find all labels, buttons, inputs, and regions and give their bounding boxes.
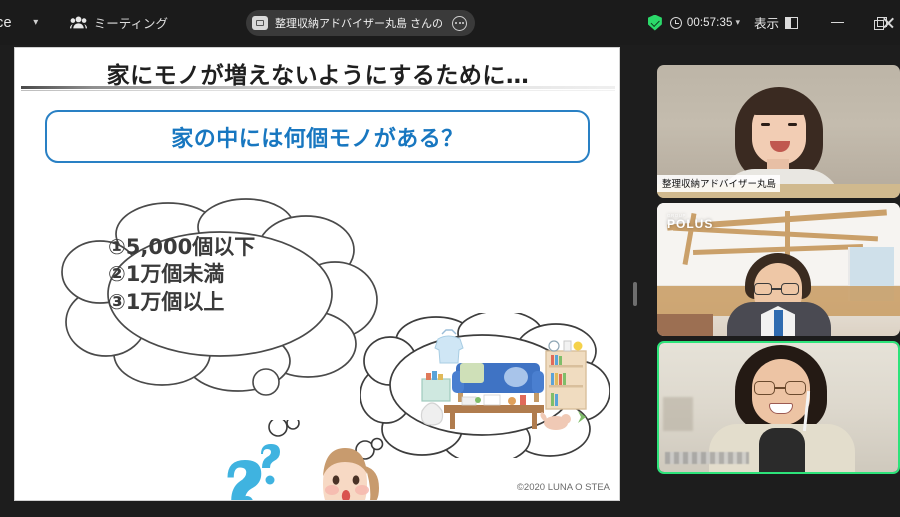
bangs-shape [749, 91, 809, 115]
meeting-timer[interactable]: 00:57:35 [670, 17, 733, 29]
screen-share-label: 整理収納アドバイザー丸島 さんの [275, 15, 443, 31]
glasses-bridge [772, 288, 781, 290]
question-mark-icons [228, 444, 281, 501]
chevron-down-icon[interactable]: ▾ [28, 17, 44, 28]
tie-shape [774, 310, 783, 336]
glasses-right [781, 283, 799, 295]
shield-check-icon [648, 15, 662, 31]
background-shelf [663, 397, 693, 431]
participant-tile-3[interactable] [657, 341, 900, 474]
eye-left [761, 123, 770, 126]
participant-name-label-1: 整理収納アドバイザー丸島 [657, 175, 780, 193]
thinking-woman-illustration [205, 420, 385, 501]
turtleneck-shape [759, 428, 805, 472]
screen-share-icon [252, 16, 268, 30]
thought-bubble-room [360, 313, 610, 458]
glasses-left [754, 381, 775, 395]
slide-copyright: ©2020 LUNA O STEA [517, 482, 610, 493]
chevron-down-icon[interactable]: ▾ [735, 17, 740, 28]
minimize-button[interactable] [816, 0, 858, 45]
more-options-icon[interactable] [452, 16, 467, 31]
view-menu-label[interactable]: 表示 [754, 13, 779, 32]
thought-bubble-options: ①5,000個以下②1万個未満③1万個以上 [50, 196, 390, 396]
clock-icon [670, 17, 682, 29]
meeting-stage: 家にモノが増えないようにするために… 家の中には何個モノがある？ [0, 45, 900, 517]
bag-icon [421, 403, 442, 425]
participant-video-3 [659, 343, 898, 472]
shared-slide-content[interactable]: 家にモノが増えないようにするために… 家の中には何個モノがある？ [14, 47, 620, 501]
thought-trail-bubbles [269, 420, 383, 459]
polus-watermark-main: POLUS [667, 217, 713, 231]
app-name-label: ce [0, 15, 12, 31]
participant-tile-1[interactable]: 整理収納アドバイザー丸島 [657, 65, 900, 198]
topbar-right-group: 00:57:35 ▾ 表示 [648, 0, 900, 45]
participant-tile-2[interactable]: GROUPPOLUS [657, 203, 900, 336]
bookshelf-icon [546, 341, 586, 409]
ceiling-beam [785, 211, 790, 255]
teams-meeting-window: ce ▾ ミーティング 整理収納アドバイザー丸島 さんの [0, 0, 900, 517]
shirt-icon [435, 330, 463, 363]
meeting-nav-item[interactable]: ミーティング [70, 13, 168, 32]
foreground-desk [657, 314, 713, 336]
character-shape [205, 420, 385, 501]
eye-right [788, 123, 797, 126]
close-button[interactable] [866, 0, 900, 45]
layout-view-icon[interactable] [785, 17, 798, 29]
participant-video-list: 整理収納アドバイザー丸島 GROUPPOLUS [657, 65, 900, 505]
panel-resize-handle[interactable] [630, 45, 654, 517]
meeting-nav-label: ミーティング [94, 13, 168, 32]
title-divider-rule-shadow [21, 90, 615, 92]
room-objects-illustration [360, 313, 610, 458]
polus-watermark: GROUPPOLUS [667, 213, 713, 231]
glasses-left [754, 283, 772, 295]
toy-box-icon [422, 371, 450, 401]
slide-options-text: ①5,000個以下②1万個未満③1万個以上 [108, 234, 255, 316]
participant-video-2: GROUPPOLUS [657, 203, 900, 336]
people-icon [70, 16, 87, 29]
meeting-top-bar: ce ▾ ミーティング 整理収納アドバイザー丸島 さんの [0, 0, 900, 45]
slide-title: 家にモノが増えないようにするために… [15, 56, 620, 90]
glasses-bridge [775, 387, 785, 389]
screen-share-pill[interactable]: 整理収納アドバイザー丸島 さんの [246, 10, 475, 36]
cat-icon [540, 412, 571, 430]
glasses-right [785, 381, 806, 395]
slide-question-box: 家の中には何個モノがある？ [45, 110, 590, 163]
resize-handle-icon [633, 282, 637, 306]
blurred-name-bar [665, 452, 749, 464]
topbar-left-group: ce ▾ ミーティング [0, 0, 168, 45]
slide-question-text: 家の中には何個モノがある？ [171, 121, 464, 153]
meeting-timer-value: 00:57:35 [687, 17, 733, 29]
green-arrow-icon [578, 411, 586, 423]
